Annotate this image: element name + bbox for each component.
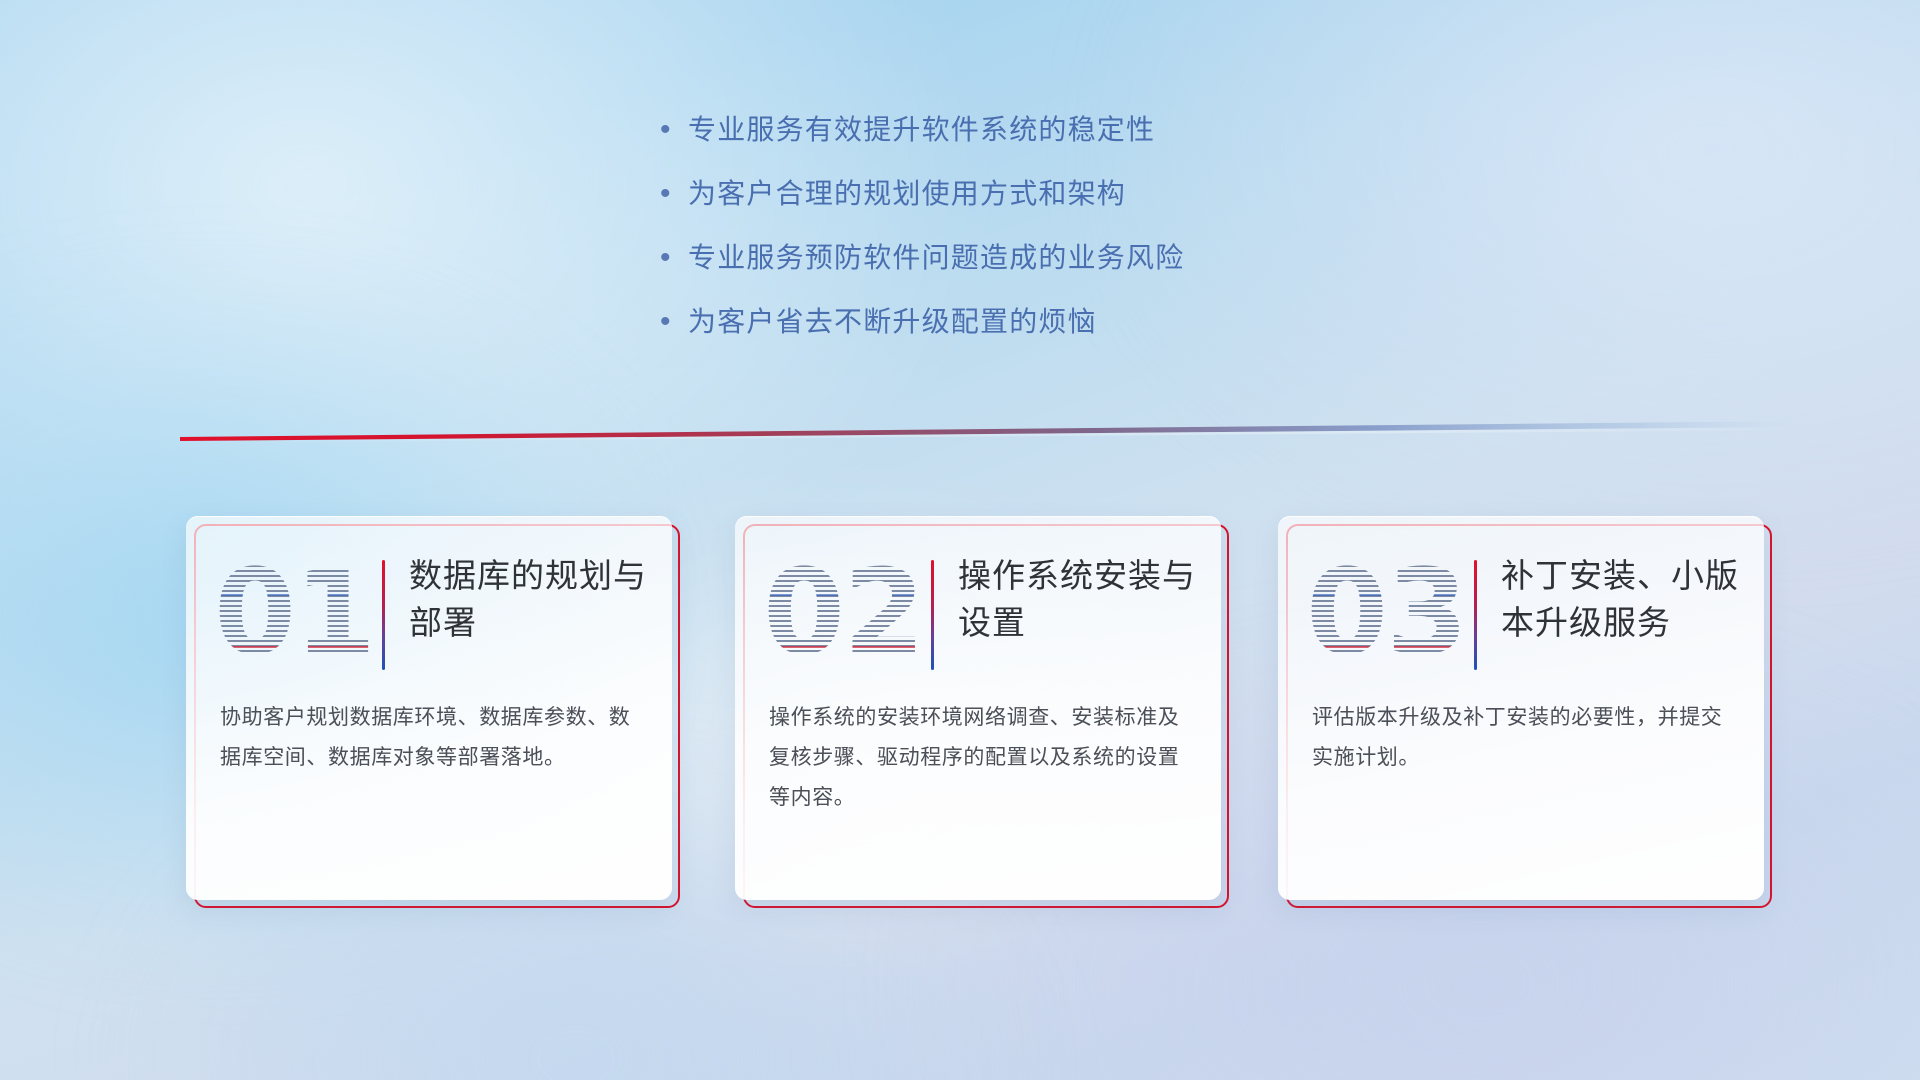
card-divider-bar (931, 560, 934, 670)
card-surface[interactable]: 01 01 数据库的规划与部署 协助客户规划数据库环境、数据库参数、数据库空间、… (186, 516, 672, 900)
card-divider-bar (382, 560, 385, 670)
card-header: 02 02 操作系统安装与设置 (735, 516, 1221, 694)
section-divider (180, 418, 1800, 444)
bullet-dot-icon: • (660, 236, 688, 280)
card-header: 01 01 数据库的规划与部署 (186, 516, 672, 694)
card-number-watermark: 03 03 (1306, 550, 1474, 674)
bullet-text: 为客户省去不断升级配置的烦恼 (688, 300, 1097, 344)
card-number-stripes: 03 (1306, 550, 1474, 674)
bullet-text: 为客户合理的规划使用方式和架构 (688, 172, 1126, 216)
bullet-text: 专业服务预防软件问题造成的业务风险 (688, 236, 1184, 280)
card-number-watermark: 02 02 (763, 550, 931, 674)
service-card-03[interactable]: 03 03 补丁安装、小版本升级服务 评估版本升级及补丁安装的必要性，并提交实施… (1278, 516, 1772, 908)
bullet-dot-icon: • (660, 172, 688, 216)
card-title: 数据库的规划与部署 (409, 540, 650, 646)
card-number-watermark: 01 01 (214, 550, 382, 674)
card-number-stripes: 01 (214, 550, 382, 674)
service-card-01[interactable]: 01 01 数据库的规划与部署 协助客户规划数据库环境、数据库参数、数据库空间、… (186, 516, 680, 908)
bullet-dot-icon: • (660, 108, 688, 152)
slide-content: • 专业服务有效提升软件系统的稳定性 • 为客户合理的规划使用方式和架构 • 专… (0, 0, 1920, 1080)
list-item: • 专业服务预防软件问题造成的业务风险 (660, 236, 1420, 300)
card-body-text: 协助客户规划数据库环境、数据库参数、数据库空间、数据库对象等部署落地。 (186, 694, 672, 778)
card-body-text: 评估版本升级及补丁安装的必要性，并提交实施计划。 (1278, 694, 1764, 778)
card-number-stripes: 02 (763, 550, 931, 674)
list-item: • 为客户省去不断升级配置的烦恼 (660, 300, 1420, 364)
card-surface[interactable]: 03 03 补丁安装、小版本升级服务 评估版本升级及补丁安装的必要性，并提交实施… (1278, 516, 1764, 900)
bullet-text: 专业服务有效提升软件系统的稳定性 (688, 108, 1155, 152)
service-card-list: 01 01 数据库的规划与部署 协助客户规划数据库环境、数据库参数、数据库空间、… (0, 516, 1920, 916)
list-item: • 专业服务有效提升软件系统的稳定性 (660, 108, 1420, 172)
card-title: 操作系统安装与设置 (958, 540, 1199, 646)
service-card-02[interactable]: 02 02 操作系统安装与设置 操作系统的安装环境网络调查、安装标准及复核步骤、… (735, 516, 1229, 908)
card-header: 03 03 补丁安装、小版本升级服务 (1278, 516, 1764, 694)
list-item: • 为客户合理的规划使用方式和架构 (660, 172, 1420, 236)
card-body-text: 操作系统的安装环境网络调查、安装标准及复核步骤、驱动程序的配置以及系统的设置等内… (735, 694, 1221, 818)
benefits-bullet-list: • 专业服务有效提升软件系统的稳定性 • 为客户合理的规划使用方式和架构 • 专… (660, 108, 1420, 364)
card-surface[interactable]: 02 02 操作系统安装与设置 操作系统的安装环境网络调查、安装标准及复核步骤、… (735, 516, 1221, 900)
bullet-dot-icon: • (660, 300, 688, 344)
card-title: 补丁安装、小版本升级服务 (1501, 540, 1742, 646)
divider-shape (180, 418, 1800, 444)
card-divider-bar (1474, 560, 1477, 670)
